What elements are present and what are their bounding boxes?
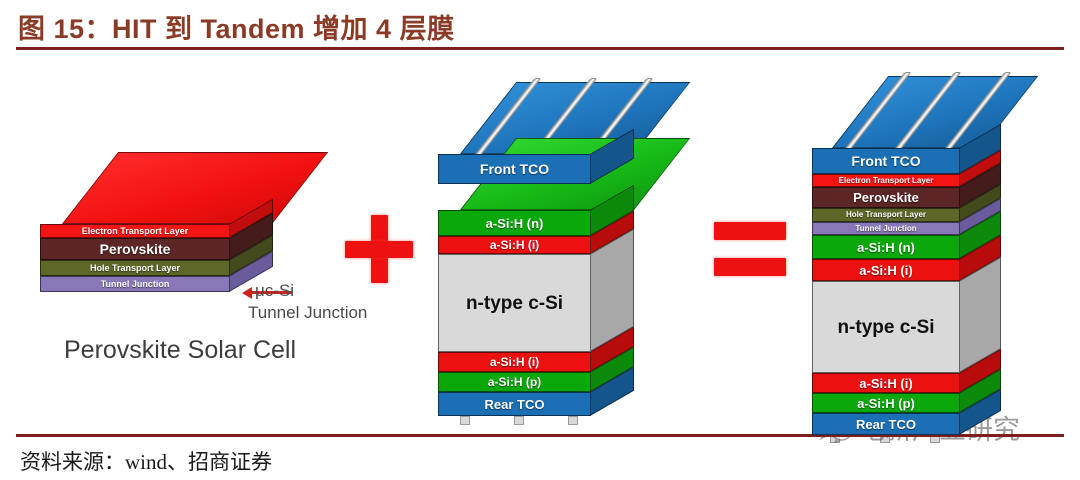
layer-label: n-type c-Si xyxy=(466,294,563,313)
layer-asi-h-i-top: a-Si:H (i) xyxy=(438,236,591,254)
rear-contact-foot xyxy=(460,416,470,425)
layer-front-tco: Front TCO xyxy=(438,154,591,184)
layer-label: Hole Transport Layer xyxy=(90,264,180,273)
page-title: 图 15：HIT 到 Tandem 增加 4 层膜 xyxy=(18,7,455,46)
layer-label: n-type c-Si xyxy=(837,318,934,337)
layer-label: a-Si:H (p) xyxy=(857,397,915,410)
hit-solar-cell-diagram: Front TCO a-Si:H (n) a-Si:H (i) n-type c… xyxy=(438,82,688,422)
layer-electron-transport-layer: Electron Transport Layer xyxy=(812,174,960,187)
layer-label: Hole Transport Layer xyxy=(846,211,926,219)
layer-label: Tunnel Junction xyxy=(855,225,916,233)
layer-n-type-c-si: n-type c-Si xyxy=(812,281,960,373)
layer-label: a-Si:H (i) xyxy=(859,264,912,277)
left-cell-caption: Perovskite Solar Cell xyxy=(64,336,296,365)
layer-electron-transport-layer: Electron Transport Layer xyxy=(40,224,230,238)
figure-header: 图 15：HIT 到 Tandem 增加 4 层膜 xyxy=(0,0,1080,52)
annotation-uc-si: μc-Si xyxy=(255,281,294,301)
layer-label: a-Si:H (i) xyxy=(490,239,539,251)
plus-operator xyxy=(345,215,413,283)
layer-label: Tunnel Junction xyxy=(101,280,170,289)
layer-asi-h-n: a-Si:H (n) xyxy=(812,235,960,259)
layer-label: Perovskite xyxy=(100,242,171,256)
layer-rear-tco: Rear TCO xyxy=(812,413,960,435)
annotation-tunnel-junction: Tunnel Junction xyxy=(248,303,367,323)
layer-asi-h-p: a-Si:H (p) xyxy=(812,393,960,413)
layer-label: Electron Transport Layer xyxy=(82,227,189,236)
layer-asi-h-i-bottom: a-Si:H (i) xyxy=(438,352,591,372)
layer-label: Rear TCO xyxy=(485,398,545,411)
layer-rear-tco: Rear TCO xyxy=(438,392,591,416)
layer-asi-h-p: a-Si:H (p) xyxy=(438,372,591,392)
layer-asi-h-i-top: a-Si:H (i) xyxy=(812,259,960,281)
rear-contact-foot xyxy=(568,416,578,425)
layer-label: a-Si:H (i) xyxy=(490,356,539,368)
layer-label: Rear TCO xyxy=(856,418,916,431)
layer-n-type-c-si: n-type c-Si xyxy=(438,254,591,352)
layer-label: a-Si:H (p) xyxy=(488,376,541,388)
layer-hole-transport-layer: Hole Transport Layer xyxy=(812,208,960,222)
equals-bottom-bar xyxy=(714,258,786,276)
layer-label: Perovskite xyxy=(853,191,919,204)
equals-operator xyxy=(714,222,786,276)
layer-tunnel-junction: Tunnel Junction xyxy=(812,222,960,235)
plus-horizontal-bar xyxy=(345,241,413,258)
tandem-solar-cell-diagram: Front TCO Electron Transport Layer Perov… xyxy=(812,76,1062,426)
equals-top-bar xyxy=(714,222,786,240)
layer-label: a-Si:H (n) xyxy=(857,241,915,254)
layer-tunnel-junction: Tunnel Junction xyxy=(40,276,230,292)
layer-asi-h-n: a-Si:H (n) xyxy=(438,210,591,236)
layer-hole-transport-layer: Hole Transport Layer xyxy=(40,260,230,276)
title-divider xyxy=(16,47,1064,50)
layer-perovskite: Perovskite xyxy=(812,187,960,208)
tunnel-junction-arrow-head xyxy=(242,287,252,299)
layer-label: Front TCO xyxy=(851,154,920,168)
perovskite-top-face xyxy=(62,152,328,224)
layer-label: a-Si:H (i) xyxy=(859,377,912,390)
layer-label: a-Si:H (n) xyxy=(486,217,544,230)
source-note: 资料来源：wind、招商证券 xyxy=(20,446,272,476)
layer-front-tco: Front TCO xyxy=(812,148,960,174)
layer-label: Electron Transport Layer xyxy=(839,177,934,185)
rear-contact-foot xyxy=(514,416,524,425)
tandem-front-tco-top-face xyxy=(832,76,1038,148)
layer-perovskite: Perovskite xyxy=(40,238,230,260)
layer-asi-h-i-bottom: a-Si:H (i) xyxy=(812,373,960,393)
layer-label: Front TCO xyxy=(480,162,549,176)
